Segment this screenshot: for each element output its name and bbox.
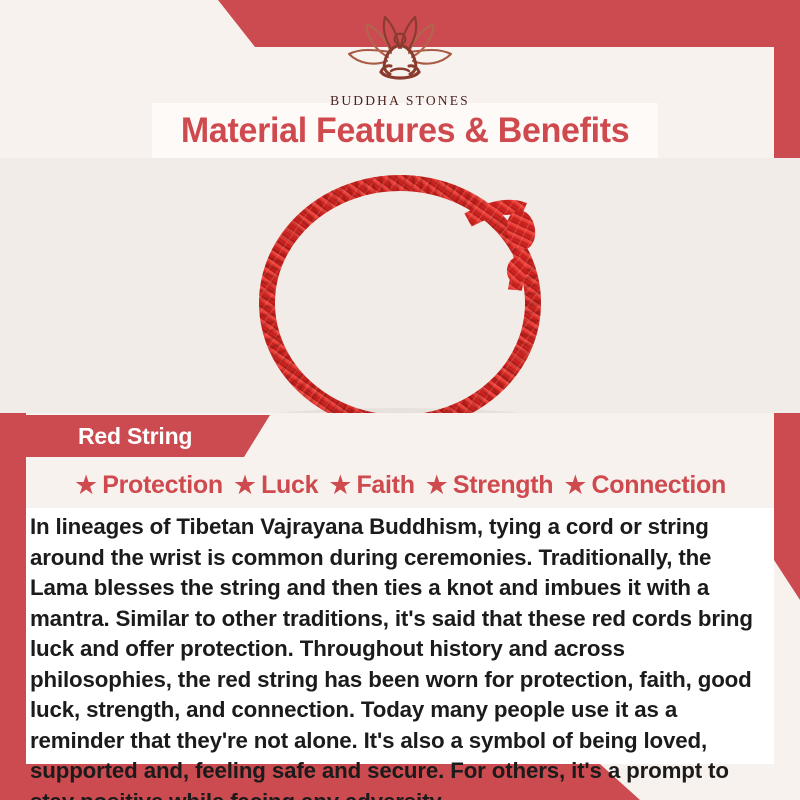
description-text: In lineages of Tibetan Vajrayana Buddhis… [26, 508, 774, 800]
feature-item: ★ Strength [425, 471, 554, 500]
feature-item: ★ Faith [328, 471, 414, 500]
feature-label: Protection [102, 471, 223, 500]
title-banner: Material Features & Benefits [152, 103, 658, 158]
star-icon: ★ [425, 472, 449, 499]
lotus-meditation-figure-icon [0, 12, 800, 91]
product-photo [0, 158, 800, 413]
brand-name: BUDDHA STONES [0, 93, 800, 109]
star-icon: ★ [233, 472, 257, 499]
feature-item: ★ Connection [563, 471, 726, 500]
feature-item: ★ Luck [233, 471, 318, 500]
feature-label: Luck [261, 471, 318, 500]
brand-logo: BUDDHA STONES [0, 12, 800, 109]
feature-label: Faith [356, 471, 414, 500]
page-title: Material Features & Benefits [181, 111, 629, 151]
feature-item: ★ Protection [74, 471, 223, 500]
infographic-page: BUDDHA STONES Material Features & Benefi… [0, 0, 800, 800]
material-label-banner: Red String [26, 415, 270, 457]
material-label: Red String [78, 423, 192, 450]
star-icon: ★ [563, 472, 587, 499]
feature-label: Strength [453, 471, 553, 500]
feature-label: Connection [591, 471, 726, 500]
description-panel: In lineages of Tibetan Vajrayana Buddhis… [26, 508, 774, 764]
star-icon: ★ [328, 472, 352, 499]
star-icon: ★ [74, 472, 98, 499]
features-list: ★ Protection ★ Luck ★ Faith ★ Strength ★… [26, 463, 774, 507]
